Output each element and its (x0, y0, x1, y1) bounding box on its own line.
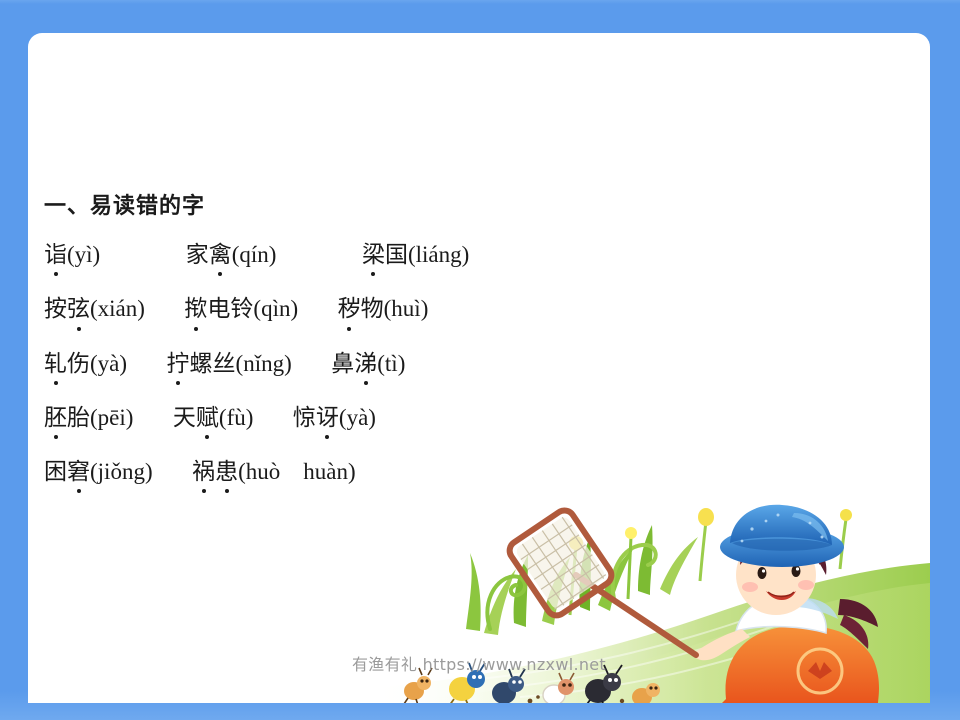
pinyin: (jiǒng) (90, 459, 153, 484)
emphasized-char: 讶 (316, 405, 339, 430)
word-group: 惊讶(yà) (293, 405, 376, 430)
shirt (736, 595, 826, 633)
word-group: 拧螺丝(nǐng) (167, 351, 292, 376)
pinyin: (tì) (377, 351, 405, 376)
sun-hat (720, 505, 844, 567)
pinyin: (yà) (339, 405, 376, 430)
emphasized-char: 弦 (67, 296, 90, 321)
word-group: 秽物(huì) (338, 296, 429, 321)
pinyin: (fù) (219, 405, 253, 430)
word-group: 祸患(huò huàn) (192, 459, 356, 484)
word-suffix: 伤 (67, 351, 90, 376)
emphasized-char: 胚 (44, 405, 67, 430)
face (736, 535, 816, 615)
word-group: 轧伤(yà) (44, 351, 127, 376)
content-area: 一、易读错的字 诣(yì) 家禽(qín) 梁国(liáng) 按弦(xián)… (44, 188, 604, 484)
emphasized-char: 涕 (354, 351, 377, 376)
pinyin: (pēi) (90, 405, 133, 430)
pinyin: (yì) (67, 242, 100, 267)
dandelions (569, 506, 852, 615)
word-group: 诣(yì) (44, 242, 100, 267)
emphasized-char: 禽 (209, 242, 232, 267)
slide-page: 一、易读错的字 诣(yì) 家禽(qín) 梁国(liáng) 按弦(xián)… (28, 33, 930, 703)
eye-right (792, 565, 801, 577)
page-title: 一、易读错的字 (44, 188, 604, 220)
word-line-4: 胚胎(pēi) 天赋(fù) 惊讶(yà) (44, 405, 604, 430)
emphasized-char: 诣 (44, 242, 67, 267)
pinyin: (liáng) (408, 242, 469, 267)
word-suffix: 胎 (67, 405, 90, 430)
pinyin: (qìn) (253, 296, 298, 321)
emphasized-char: 梁 (362, 242, 385, 267)
pinyin: (huò huàn) (238, 459, 356, 484)
word-group: 按弦(xián) (44, 296, 145, 321)
word-group: 胚胎(pēi) (44, 405, 133, 430)
ant (543, 673, 574, 703)
word-prefix: 天 (173, 405, 196, 430)
word-prefix: 困 (44, 459, 67, 484)
grass-hill-back (400, 583, 930, 703)
word-suffix: 国 (385, 242, 408, 267)
grass-blades (466, 525, 698, 635)
emphasized-char: 拧 (167, 351, 190, 376)
pinyin: (qín) (232, 242, 277, 267)
emphasized-char: 揿 (184, 296, 207, 321)
word-group: 家禽(qín) (186, 242, 277, 267)
word-suffix: 电铃 (207, 296, 253, 321)
eye-left (758, 567, 767, 579)
word-line-5: 困窘(jiǒng) 祸患(huò huàn) (44, 459, 604, 484)
slide-canvas: 一、易读错的字 诣(yì) 家禽(qín) 梁国(liáng) 按弦(xián)… (0, 0, 960, 720)
word-group: 梁国(liáng) (362, 242, 469, 267)
word-prefix: 按 (44, 296, 67, 321)
word-group: 困窘(jiǒng) (44, 459, 153, 484)
butterfly-net (506, 507, 696, 655)
emphasized-char: 轧 (44, 351, 67, 376)
emphasized-char: 患 (215, 459, 238, 484)
word-line-2: 按弦(xián) 揿电铃(qìn) 秽物(huì) (44, 296, 604, 321)
grass-hill (370, 563, 930, 703)
pinyin: (huì) (384, 296, 429, 321)
emphasized-char: 窘 (67, 459, 90, 484)
pinyin: (nǐng) (236, 351, 292, 376)
word-suffix: 物 (361, 296, 384, 321)
hair (740, 527, 820, 565)
pinyin: (yà) (90, 351, 127, 376)
watermark-text: 有渔有礼 https://www.nzxwl.net (28, 651, 930, 675)
word-group: 鼻涕(tì) (331, 351, 405, 376)
emphasized-char: 赋 (196, 405, 219, 430)
word-group: 揿电铃(qìn) (184, 296, 298, 321)
word-suffix: 螺丝 (190, 351, 236, 376)
word-prefix: 家 (186, 242, 209, 267)
pinyin: (xián) (90, 296, 145, 321)
word-line-1: 诣(yì) 家禽(qín) 梁国(liáng) (44, 242, 604, 267)
emphasized-char: 秽 (338, 296, 361, 321)
word-group: 天赋(fù) (173, 405, 253, 430)
emphasized-char: 祸 (192, 459, 215, 484)
word-line-3: 轧伤(yà) 拧螺丝(nǐng) 鼻涕(tì) (44, 351, 604, 376)
word-prefix: 鼻 (331, 351, 354, 376)
word-prefix: 惊 (293, 405, 316, 430)
ant (632, 683, 660, 703)
